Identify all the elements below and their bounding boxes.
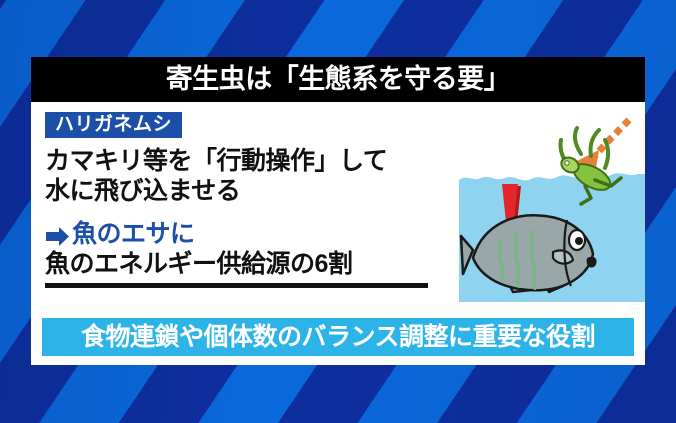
content-panel: ハリガネムシ カマキリ等を「行動操作」して 水に飛び込ませる 魚のエサに 魚のエ… (31, 102, 645, 365)
body-line-2: 水に飛び込ませる (45, 176, 445, 206)
summary-banner: 食物連鎖や個体数のバランス調整に重要な役割 (42, 318, 634, 356)
summary-banner-text: 食物連鎖や個体数のバランス調整に重要な役割 (81, 325, 595, 350)
info-card: 寄生虫は「生態系を守る要」 ハリガネムシ カマキリ等を「行動操作」して 水に飛び… (31, 57, 645, 365)
accent-line-text: 魚のエサに (72, 219, 195, 249)
illustration (459, 102, 645, 320)
infographic-slide: 寄生虫は「生態系を守る要」 ハリガネムシ カマキリ等を「行動操作」して 水に飛び… (0, 0, 676, 423)
arrow-right-icon (45, 224, 70, 245)
title-bar: 寄生虫は「生態系を守る要」 (31, 57, 645, 102)
accent-line: 魚のエサに (45, 219, 445, 249)
page-title: 寄生虫は「生態系を守る要」 (166, 66, 511, 93)
stat-line: 魚のエネルギー供給源の6割 (45, 249, 445, 279)
topic-badge: ハリガネムシ (45, 112, 182, 138)
body-line-1: カマキリ等を「行動操作」して (45, 146, 445, 176)
text-column: ハリガネムシ カマキリ等を「行動操作」して 水に飛び込ませる 魚のエサに 魚のエ… (45, 112, 445, 288)
stat-underline (45, 283, 428, 288)
